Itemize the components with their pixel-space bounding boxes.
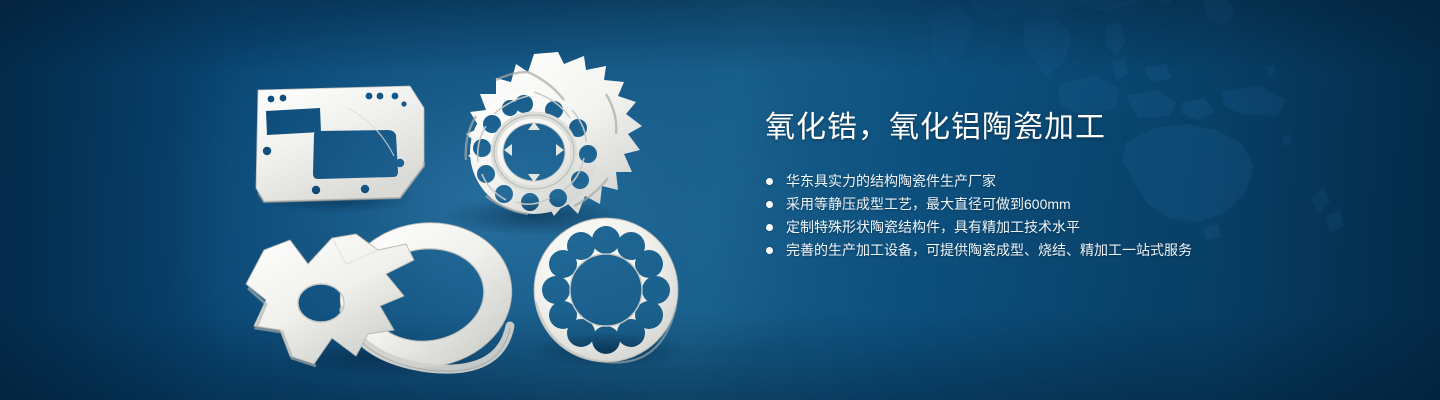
list-item-label: 华东具实力的结构陶瓷件生产厂家 — [786, 173, 996, 189]
bullet-icon — [766, 224, 773, 231]
ceramic-products-image — [228, 38, 698, 390]
bullet-icon — [766, 201, 773, 208]
ceramic-machined-plate — [256, 86, 424, 202]
list-item-label: 完善的生产加工设备，可提供陶瓷成型、烧结、精加工一站式服务 — [786, 242, 1192, 258]
list-item: 定制特殊形状陶瓷结构件，具有精加工技术水平 — [765, 216, 1385, 239]
list-item: 采用等静压成型工艺，最大直径可做到600mm — [765, 193, 1385, 216]
page-title: 氧化锆，氧化铝陶瓷加工 — [765, 108, 1385, 148]
feature-list: 华东具实力的结构陶瓷件生产厂家 采用等静压成型工艺，最大直径可做到600mm 定… — [765, 170, 1385, 262]
list-item: 完善的生产加工设备，可提供陶瓷成型、烧结、精加工一站式服务 — [765, 239, 1385, 262]
list-item: 华东具实力的结构陶瓷件生产厂家 — [765, 170, 1385, 193]
ceramic-perforated-disc — [534, 218, 678, 363]
list-item-label: 采用等静压成型工艺，最大直径可做到600mm — [786, 196, 1071, 212]
bullet-icon — [766, 178, 773, 185]
ceramic-vaned-impeller — [466, 52, 642, 216]
banner-copy: 氧化锆，氧化铝陶瓷加工 华东具实力的结构陶瓷件生产厂家 采用等静压成型工艺，最大… — [765, 108, 1385, 262]
list-item-label: 定制特殊形状陶瓷结构件，具有精加工技术水平 — [786, 219, 1080, 235]
promo-banner: 氧化锆，氧化铝陶瓷加工 华东具实力的结构陶瓷件生产厂家 采用等静压成型工艺，最大… — [0, 0, 1440, 400]
bullet-icon — [766, 247, 773, 254]
